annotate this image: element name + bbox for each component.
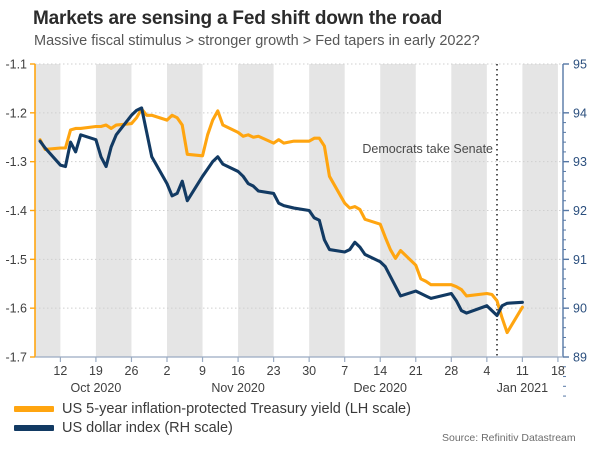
svg-text:12: 12 xyxy=(53,364,67,378)
svg-text:28: 28 xyxy=(444,364,458,378)
svg-text:-1.5: -1.5 xyxy=(5,253,27,267)
svg-text:94: 94 xyxy=(573,106,587,120)
legend-swatch-tips-yield xyxy=(14,406,54,412)
svg-text:2: 2 xyxy=(164,364,171,378)
svg-text:11: 11 xyxy=(516,364,529,378)
legend-label-tips-yield: US 5-year inflation-protected Treasury y… xyxy=(62,401,411,417)
svg-text:92: 92 xyxy=(573,204,587,218)
svg-text:16: 16 xyxy=(231,364,245,378)
chart-legend: US 5-year inflation-protected Treasury y… xyxy=(14,399,411,437)
chart-plot-area: -1.1-1.2-1.3-1.4-1.5-1.6-1.7899091929394… xyxy=(0,0,600,450)
svg-text:-1.3: -1.3 xyxy=(5,155,27,169)
svg-text:Dec 2020: Dec 2020 xyxy=(353,381,407,395)
svg-text:93: 93 xyxy=(573,155,587,169)
svg-text:-1.6: -1.6 xyxy=(5,302,27,316)
source-attribution: Source: Refinitiv Datastream xyxy=(442,432,576,444)
svg-text:21: 21 xyxy=(409,364,423,378)
svg-text:91: 91 xyxy=(573,253,587,267)
svg-text:19: 19 xyxy=(89,364,103,378)
svg-text:-1.1: -1.1 xyxy=(5,58,27,72)
svg-text:7: 7 xyxy=(341,364,348,378)
svg-text:23: 23 xyxy=(267,364,281,378)
svg-text:14: 14 xyxy=(373,364,387,378)
svg-text:Jan 2021: Jan 2021 xyxy=(497,381,548,395)
svg-text:Oct 2020: Oct 2020 xyxy=(71,381,122,395)
svg-text:-1.4: -1.4 xyxy=(5,204,27,218)
svg-text:89: 89 xyxy=(573,351,587,365)
svg-text:-1.7: -1.7 xyxy=(5,351,27,365)
svg-text:4: 4 xyxy=(483,364,490,378)
legend-item-dollar-index[interactable]: US dollar index (RH scale) xyxy=(14,418,411,437)
svg-text:18: 18 xyxy=(551,364,565,378)
svg-text:95: 95 xyxy=(573,58,587,72)
svg-text:Nov 2020: Nov 2020 xyxy=(211,381,265,395)
annotation-democrats-take-senate: Democrats take Senate xyxy=(362,142,493,156)
svg-text:26: 26 xyxy=(125,364,139,378)
legend-label-dollar-index: US dollar index (RH scale) xyxy=(62,420,233,436)
legend-swatch-dollar-index xyxy=(14,425,54,431)
chart-container: Markets are sensing a Fed shift down the… xyxy=(0,0,600,450)
legend-item-tips-yield[interactable]: US 5-year inflation-protected Treasury y… xyxy=(14,399,411,418)
svg-text:9: 9 xyxy=(199,364,206,378)
svg-text:90: 90 xyxy=(573,302,587,316)
svg-text:30: 30 xyxy=(302,364,316,378)
svg-text:-1.2: -1.2 xyxy=(5,106,27,120)
